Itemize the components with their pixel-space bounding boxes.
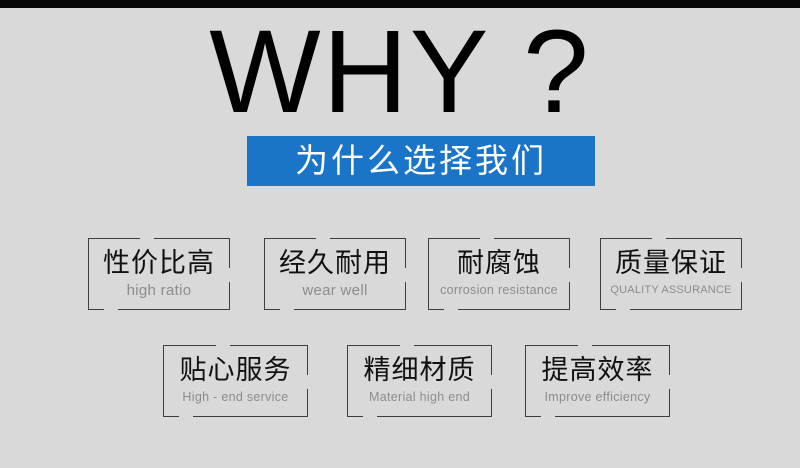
feature-title-en: Improve efficiency [545, 388, 651, 407]
feature-card-high-end-service[interactable]: 贴心服务 High - end service [163, 345, 308, 417]
subtitle-text: 为什么选择我们 [295, 144, 547, 179]
feature-labels: 耐腐蚀 corrosion resistance [428, 238, 570, 310]
feature-title-en: corrosion resistance [440, 281, 558, 300]
feature-card-wear-well[interactable]: 经久耐用 wear well [264, 238, 406, 310]
feature-title-cn: 耐腐蚀 [457, 248, 541, 278]
subtitle-banner: 为什么选择我们 [247, 136, 595, 186]
feature-labels: 质量保证 QUALITY ASSURANCE [600, 238, 742, 310]
feature-card-high-ratio[interactable]: 性价比高 high ratio [88, 238, 230, 310]
feature-title-cn: 精细材质 [364, 355, 476, 385]
feature-title-cn: 提高效率 [542, 355, 654, 385]
feature-card-improve-efficiency[interactable]: 提高效率 Improve efficiency [525, 345, 670, 417]
feature-title-en: High - end service [182, 388, 288, 407]
feature-title-en: QUALITY ASSURANCE [610, 281, 731, 300]
feature-title-en: Material high end [369, 388, 470, 407]
feature-card-quality-assurance[interactable]: 质量保证 QUALITY ASSURANCE [600, 238, 742, 310]
feature-title-cn: 性价比高 [103, 248, 215, 278]
feature-title-cn: 经久耐用 [279, 248, 391, 278]
feature-title-en: high ratio [127, 281, 192, 300]
feature-card-material-high-end[interactable]: 精细材质 Material high end [347, 345, 492, 417]
feature-labels: 经久耐用 wear well [264, 238, 406, 310]
feature-title-cn: 贴心服务 [180, 355, 292, 385]
feature-title-cn: 质量保证 [615, 248, 727, 278]
promo-banner-page: WHY ? 为什么选择我们 性价比高 high ratio [0, 0, 800, 468]
feature-title-en: wear well [302, 281, 367, 300]
feature-labels: 性价比高 high ratio [88, 238, 230, 310]
feature-card-corrosion-resistance[interactable]: 耐腐蚀 corrosion resistance [428, 238, 570, 310]
feature-labels: 贴心服务 High - end service [163, 345, 308, 417]
feature-labels: 提高效率 Improve efficiency [525, 345, 670, 417]
page-title: WHY ? [0, 12, 800, 132]
feature-labels: 精细材质 Material high end [347, 345, 492, 417]
